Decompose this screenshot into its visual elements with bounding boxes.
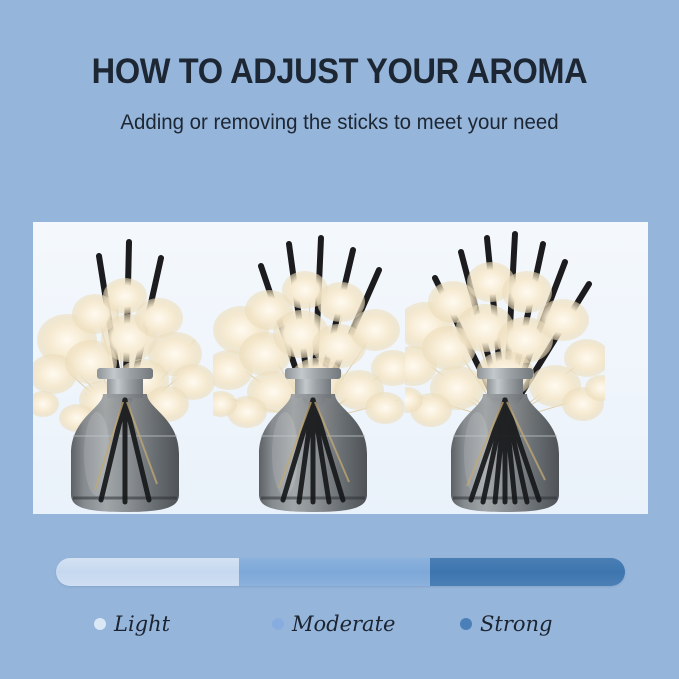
product-photo-panel — [33, 222, 648, 514]
arrangement-moderate — [213, 222, 413, 514]
legend-label-strong: Strong — [480, 614, 552, 635]
arrangement-strong — [405, 222, 605, 514]
legend-item-moderate: Moderate — [272, 608, 395, 640]
arrangement-light — [33, 222, 225, 514]
legend-label-moderate: Moderate — [292, 614, 395, 635]
bar-segment-light — [56, 558, 239, 586]
page-subtitle: Adding or removing the sticks to meet yo… — [17, 112, 662, 134]
page-title: HOW TO ADJUST YOUR AROMA — [24, 54, 655, 89]
legend-dot-icon — [94, 618, 106, 630]
legend-item-light: Light — [94, 608, 170, 640]
bar-segment-strong — [430, 558, 625, 586]
bar-segment-moderate — [239, 558, 430, 586]
header: HOW TO ADJUST YOUR AROMA Adding or remov… — [0, 0, 679, 200]
legend-item-strong: Strong — [460, 608, 552, 640]
legend: Light Moderate Strong — [56, 608, 625, 648]
legend-label-light: Light — [114, 614, 170, 635]
legend-dot-icon — [460, 618, 472, 630]
legend-dot-icon — [272, 618, 284, 630]
intensity-gradient-bar — [56, 558, 625, 586]
